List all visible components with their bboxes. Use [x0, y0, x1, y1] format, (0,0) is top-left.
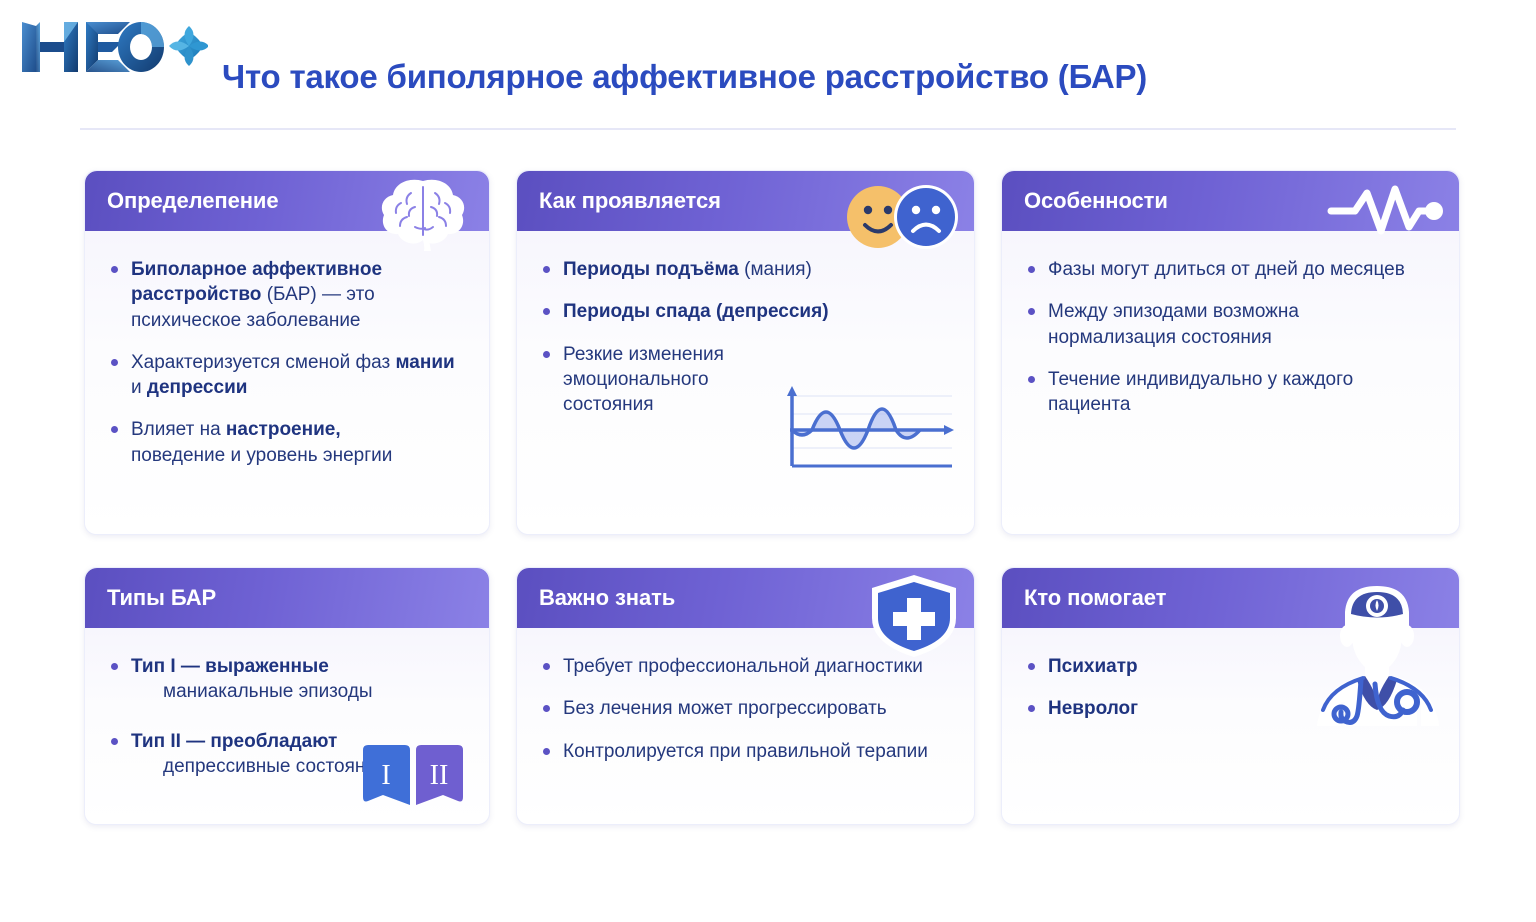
badge-label-1: I [381, 760, 390, 791]
list-item: Влияет на настроение,поведение и уровень… [109, 417, 465, 468]
list-item: Биполарное аффективное расстройство (БАР… [109, 257, 465, 333]
mood-wave-chart [768, 380, 956, 472]
card-header-who-helps: Кто помогает [1002, 568, 1459, 628]
card-types[interactable]: Типы БАР Тип I — выраженные маниакальные… [84, 567, 490, 825]
list-item: Течение индивидуально у каждого пациента [1026, 367, 1435, 418]
bullet-bold: Периоды подъёма [563, 259, 739, 280]
card-header-types: Типы БАР [85, 568, 489, 628]
card-title: Определепение [107, 188, 278, 214]
bullet-pre: Влияет на [131, 419, 226, 440]
bullet-text: Контролируется при правильной терапии [563, 741, 928, 762]
list-item: Тип I — выраженные маниакальные эпизоды [109, 654, 399, 705]
list-item: Невролог [1026, 696, 1435, 721]
bullet-subline: поведение и уровень энергии [131, 443, 465, 468]
card-body-definition: Биполарное аффективное расстройство (БАР… [85, 231, 489, 534]
list-item: Резкие изменения эмоционального состояни… [541, 342, 791, 418]
bullet-list: Фазы могут длиться от дней до месяцев Ме… [1026, 257, 1435, 417]
card-features[interactable]: Особенности Фазы могут длиться от дней д… [1001, 170, 1460, 535]
bullet-list: Психиатр Невролог [1026, 654, 1435, 722]
bullet-bold: мании [395, 352, 454, 373]
card-manifestation[interactable]: Как проявляется Периоды подъёма (мания) … [516, 170, 975, 535]
bullet-bold: Периоды спада (депрессия) [563, 301, 829, 322]
card-important[interactable]: Важно знать Требует профессиональной диа… [516, 567, 975, 825]
card-title: Особенности [1024, 188, 1168, 214]
page-title: Что такое биполярное аффективное расстро… [222, 58, 1147, 96]
card-title: Важно знать [539, 585, 675, 611]
card-definition[interactable]: Определепение Биполарное аф [84, 170, 490, 535]
card-body-manifestation: Периоды подъёма (мания) Периоды спада (д… [517, 231, 974, 534]
bullet-pre: Характеризуется сменой фаз [131, 352, 395, 373]
badge-label-2: II [430, 760, 449, 791]
card-title: Кто помогает [1024, 585, 1166, 611]
list-item: Контролируется при правильной терапии [541, 739, 950, 764]
list-item: Фазы могут длиться от дней до месяцев [1026, 257, 1435, 282]
neo-plus-logo [18, 16, 208, 78]
list-item: Без лечения может прогрессировать [541, 696, 950, 721]
bullet-text: Без лечения может прогрессировать [563, 698, 887, 719]
card-header-important: Важно знать [517, 568, 974, 628]
list-item: Тип II — преобладают депрессивные состоя… [109, 729, 399, 780]
bullet-subline: маниакальные эпизоды [131, 679, 399, 704]
card-who-helps[interactable]: Кто помогает [1001, 567, 1460, 825]
list-item: Между эпизодами возможна нормализация со… [1026, 299, 1356, 350]
title-divider [80, 128, 1456, 130]
bullet-rest: (мания) [739, 259, 812, 280]
bullet-list: Требует профессиональной диагностики Без… [541, 654, 950, 764]
bullet-mid: и [131, 377, 147, 398]
list-item: Требует профессиональной диагностики [541, 654, 950, 679]
page-header: Что такое биполярное аффективное расстро… [0, 0, 1536, 130]
list-item: Периоды подъёма (мания) [541, 257, 950, 282]
type-badges-icon: I II [359, 744, 467, 806]
list-item: Психиатр [1026, 654, 1435, 679]
card-body-features: Фазы могут длиться от дней до месяцев Ме… [1002, 231, 1459, 534]
card-title: Типы БАР [107, 585, 216, 611]
bullet-bold-2: депрессии [147, 377, 248, 398]
card-body-who-helps: Психиатр Невролог [1002, 628, 1459, 824]
bullet-text: Фазы могут длиться от дней до месяцев [1048, 259, 1405, 280]
list-item: Периоды спада (депрессия) [541, 299, 950, 324]
bullet-text: Между эпизодами возможна нормализация со… [1048, 301, 1299, 347]
bullet-text: Течение индивидуально у каждого пациента [1048, 369, 1353, 415]
list-item: Характеризуется сменой фаз мании и депре… [109, 350, 465, 401]
card-header-definition: Определепение [85, 171, 489, 231]
bullet-bold: Невролог [1048, 698, 1138, 719]
bullet-text: Требует профессиональной диагностики [563, 656, 923, 677]
card-header-features: Особенности [1002, 171, 1459, 231]
card-body-types: Тип I — выраженные маниакальные эпизоды … [85, 628, 489, 824]
bullet-text: Резкие изменения эмоционального состояни… [563, 344, 724, 416]
card-body-important: Требует профессиональной диагностики Без… [517, 628, 974, 824]
card-header-manifestation: Как проявляется [517, 171, 974, 231]
bullet-list: Тип I — выраженные маниакальные эпизоды … [109, 654, 399, 779]
bullet-bold: Психиатр [1048, 656, 1138, 677]
bullet-bold: Тип II — преобладают [131, 731, 337, 752]
bullet-list: Биполарное аффективное расстройство (БАР… [109, 257, 465, 468]
card-title: Как проявляется [539, 188, 721, 214]
bullet-bold: настроение, [226, 419, 341, 440]
bullet-bold: Тип I — выраженные [131, 656, 329, 677]
card-grid: Определепение Биполарное аф [84, 170, 1460, 825]
